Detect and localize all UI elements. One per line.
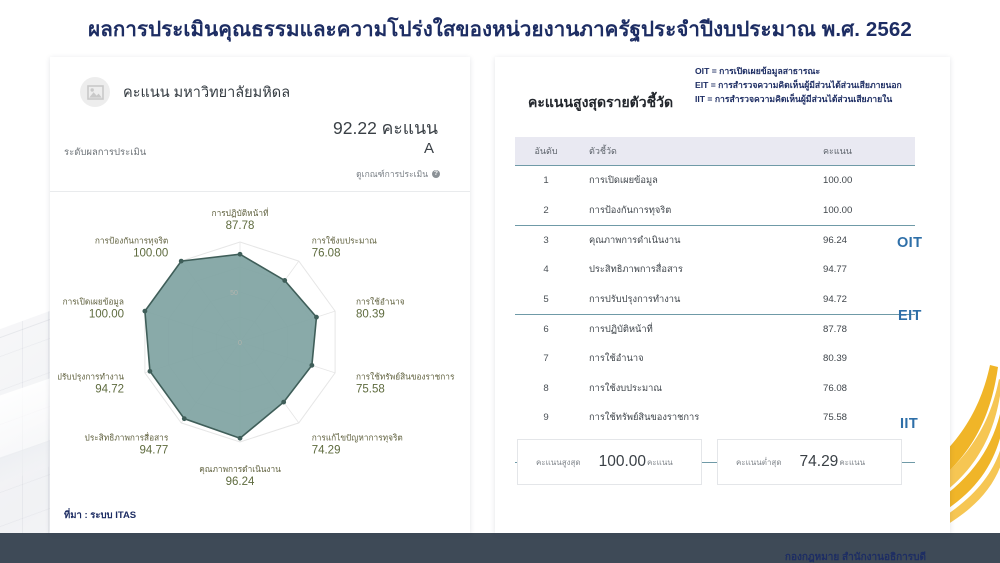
table-row[interactable]: 2การป้องกันการทุจริต100.00: [515, 195, 915, 225]
radar-axis-label: ประสิทธิภาพการสื่อสาร: [85, 432, 169, 443]
indicator-score-card: OIT = การเปิดเผยข้อมูลสาธารณะ EIT = การส…: [495, 57, 950, 533]
radar-axis-value: 100.00: [89, 308, 124, 320]
cell-indicator: การป้องกันการทุจริต: [577, 195, 823, 225]
cell-score: 94.77: [823, 255, 915, 284]
panel-title: คะแนนสูงสุดรายตัวชี้วัด: [528, 92, 673, 114]
table-header: อันดับ ตัวชี้วัด คะแนน: [515, 137, 915, 166]
cell-rank: 4: [515, 255, 577, 284]
legend-item-oit: OIT = การเปิดเผยข้อมูลสาธารณะ: [695, 65, 902, 79]
radar-axis-label: การแก้ไขปัญหาการทุจริต: [312, 433, 403, 444]
help-circle-icon[interactable]: ?: [432, 170, 440, 178]
table-row[interactable]: 7การใช้อำนาจ80.39: [515, 344, 915, 373]
table-row[interactable]: 8การใช้งบประมาณ76.08: [515, 374, 915, 403]
radar-point: [309, 363, 314, 368]
highest-score-unit: คะแนน: [647, 456, 673, 469]
lowest-score-value: 74.29: [800, 453, 839, 471]
radar-axis-value: 74.29: [312, 445, 341, 457]
cell-score: 100.00: [823, 195, 915, 225]
legend-block: OIT = การเปิดเผยข้อมูลสาธารณะ EIT = การส…: [695, 65, 902, 107]
group-tag-eit: EIT: [898, 308, 922, 324]
radar-series-area: [145, 254, 317, 438]
radar-axis-label: การปฏิบัติหน้าที่: [212, 207, 269, 218]
total-score: 92.22 คะแนน: [333, 114, 438, 142]
table-row[interactable]: 3คุณภาพการดำเนินงาน96.24: [515, 225, 915, 255]
radar-chart: การปฏิบัติหน้าที่87.78การใช้งบประมาณ76.0…: [58, 197, 462, 527]
radar-point: [142, 309, 147, 314]
radar-point: [281, 400, 286, 405]
radar-tick-50: 50: [230, 290, 238, 297]
col-header-indicator: ตัวชี้วัด: [577, 137, 823, 166]
cell-rank: 6: [515, 314, 577, 344]
table-row[interactable]: 1การเปิดเผยข้อมูล100.00: [515, 166, 915, 196]
score-summary-card: คะแนน มหาวิทยาลัยมหิดล 92.22 คะแนน ระดับ…: [50, 57, 470, 533]
radar-axis-label: การใช้ทรัพย์สินของราชการ: [356, 372, 455, 382]
highest-score-label: คะแนนสูงสุด: [536, 456, 581, 469]
radar-point: [282, 278, 287, 283]
cell-rank: 9: [515, 403, 577, 432]
table-row[interactable]: 6การปฏิบัติหน้าที่87.78: [515, 314, 915, 344]
table-row[interactable]: 9การใช้ทรัพย์สินของราชการ75.58: [515, 403, 915, 432]
cell-indicator: การปฏิบัติหน้าที่: [577, 314, 823, 344]
legend-item-iit: IIT = การสำรวจความคิดเห็นผู้มีส่วนได้ส่ว…: [695, 93, 902, 107]
cell-rank: 2: [515, 195, 577, 225]
radar-axis-value: 80.39: [356, 308, 385, 320]
org-footer: กองกฎหมาย สำนักงานอธิการบดี: [785, 550, 926, 563]
radar-axis-label: คุณภาพการดำเนินงาน: [199, 464, 281, 475]
cell-rank: 7: [515, 344, 577, 373]
radar-axis-label: การใช้งบประมาณ: [312, 235, 377, 245]
radar-point: [148, 369, 153, 374]
page-title: ผลการประเมินคุณธรรมและความโปร่งใสของหน่ว…: [0, 13, 1000, 46]
org-name: คะแนน มหาวิทยาลัยมหิดล: [123, 81, 290, 104]
radar-axis-value: 94.72: [95, 384, 124, 396]
cell-indicator: การใช้งบประมาณ: [577, 374, 823, 403]
org-header: คะแนน มหาวิทยาลัยมหิดล: [80, 77, 290, 107]
radar-axis-label: การเปิดเผยข้อมูล: [63, 296, 124, 307]
lowest-score-label: คะแนนต่ำสุด: [736, 456, 782, 469]
grade-label: ระดับผลการประเมิน: [64, 145, 146, 160]
col-header-rank: อันดับ: [515, 137, 577, 166]
grade-value: A: [424, 140, 434, 157]
radar-axis-label: การปรับปรุงการทำงาน: [58, 372, 124, 383]
radar-point: [314, 315, 319, 320]
indicator-table: อันดับ ตัวชี้วัด คะแนน 1การเปิดเผยข้อมูล…: [515, 137, 915, 463]
cell-score: 76.08: [823, 374, 915, 403]
legend-item-eit: EIT = การสำรวจความคิดเห็นผู้มีส่วนได้ส่ว…: [695, 79, 902, 93]
cell-indicator: คุณภาพการดำเนินงาน: [577, 225, 823, 255]
table-row[interactable]: 4ประสิทธิภาพการสื่อสาร94.77: [515, 255, 915, 284]
radar-point: [238, 252, 243, 257]
cell-score: 100.00: [823, 166, 915, 196]
radar-axis-value: 87.78: [226, 220, 255, 232]
slide-canvas: ผลการประเมินคุณธรรมและความโปร่งใสของหน่ว…: [0, 0, 1000, 563]
highest-score-card: คะแนนสูงสุด 100.00 คะแนน: [517, 439, 702, 485]
radar-point: [238, 436, 243, 441]
radar-point: [182, 416, 187, 421]
cell-indicator: การปรับปรุงการทำงาน: [577, 285, 823, 315]
group-tag-iit: IIT: [900, 416, 918, 432]
criteria-link-label: ดูเกณฑ์การประเมิน: [356, 167, 428, 181]
table-body: 1การเปิดเผยข้อมูล100.002การป้องกันการทุจ…: [515, 166, 915, 463]
cell-indicator: การใช้อำนาจ: [577, 344, 823, 373]
criteria-link[interactable]: ดูเกณฑ์การประเมิน ?: [356, 167, 440, 181]
radar-axis-value: 100.00: [133, 247, 168, 259]
cell-rank: 3: [515, 225, 577, 255]
card-divider: [50, 191, 470, 192]
cell-score: 80.39: [823, 344, 915, 373]
radar-axis-value: 76.08: [312, 247, 341, 259]
table-row[interactable]: 5การปรับปรุงการทำงาน94.72: [515, 285, 915, 315]
radar-tick-0: 0: [238, 340, 242, 347]
group-tag-oit: OIT: [897, 235, 922, 251]
highest-score-value: 100.00: [599, 453, 646, 471]
radar-point: [179, 259, 184, 264]
cell-rank: 5: [515, 285, 577, 315]
image-placeholder-icon: [80, 77, 110, 107]
cell-rank: 1: [515, 166, 577, 196]
radar-axis-label: การใช้อำนาจ: [356, 296, 405, 306]
radar-axis-value: 96.24: [226, 476, 255, 488]
radar-axis-label: การป้องกันการทุจริต: [95, 235, 168, 246]
table-header-row: อันดับ ตัวชี้วัด คะแนน: [515, 137, 915, 166]
col-header-score: คะแนน: [823, 137, 915, 166]
cell-indicator: การใช้ทรัพย์สินของราชการ: [577, 403, 823, 432]
cell-indicator: ประสิทธิภาพการสื่อสาร: [577, 255, 823, 284]
cell-rank: 8: [515, 374, 577, 403]
lowest-score-card: คะแนนต่ำสุด 74.29 คะแนน: [717, 439, 902, 485]
cell-indicator: การเปิดเผยข้อมูล: [577, 166, 823, 196]
source-note: ที่มา : ระบบ ITAS: [64, 508, 136, 523]
radar-axis-value: 75.58: [356, 384, 385, 396]
radar-axis-value: 94.77: [140, 445, 169, 457]
lowest-score-unit: คะแนน: [839, 456, 865, 469]
